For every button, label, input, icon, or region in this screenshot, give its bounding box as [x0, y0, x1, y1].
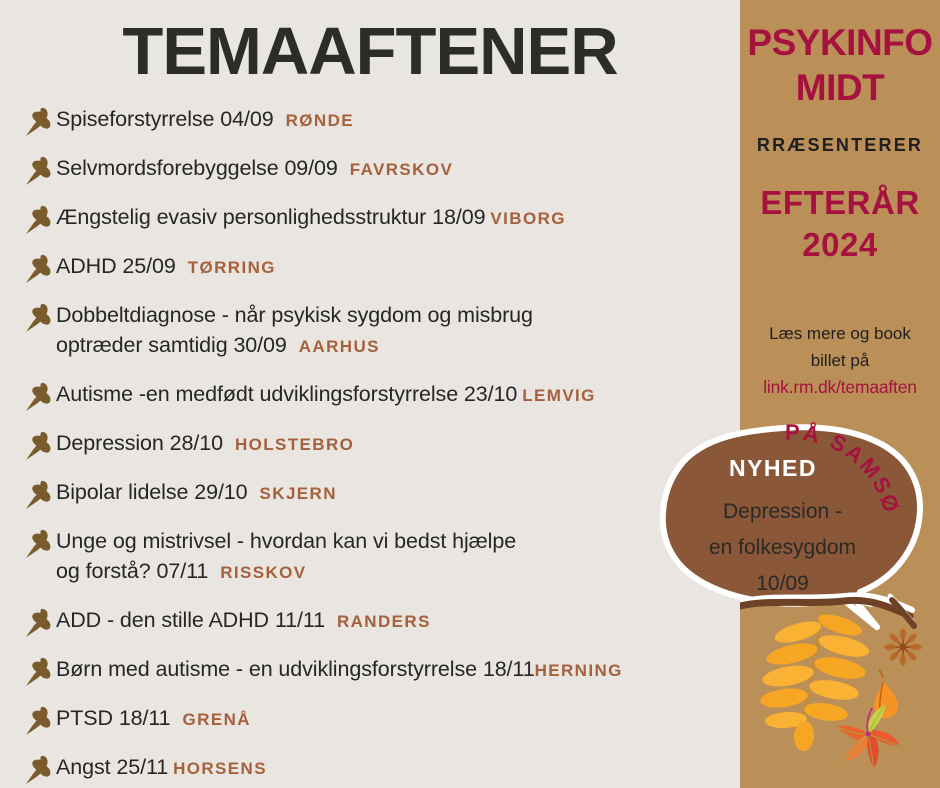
event-row[interactable]: Bipolar lidelse 29/10SKJERN	[22, 477, 742, 509]
event-city-label: RØNDE	[286, 111, 354, 130]
event-city-label: HOLSTEBRO	[235, 435, 354, 454]
news-speech-bubble: NYHED Depression - en folkesygdom 10/09 …	[655, 422, 940, 637]
pushpin-icon	[22, 106, 56, 136]
event-title-text: Børn med autisme - en udviklingsforstyrr…	[56, 657, 535, 681]
brand-name-line2: MIDT	[740, 65, 940, 110]
pushpin-icon	[22, 656, 56, 686]
event-row[interactable]: Dobbeltdiagnose - når psykisk sygdom og …	[22, 300, 742, 362]
event-text: ADD - den stille ADHD 11/11RANDERS	[56, 605, 742, 637]
booking-link[interactable]: link.rm.dk/temaaften	[740, 374, 940, 401]
event-title-text: ADD - den stille ADHD 11/11	[56, 608, 325, 632]
event-list: Spiseforstyrrelse 04/09RØNDESelvmordsfor…	[22, 104, 742, 788]
event-city-label: GRENÅ	[183, 710, 251, 729]
event-text: Børn med autisme - en udviklingsforstyrr…	[56, 654, 742, 686]
event-title-text: og forstå? 07/11	[56, 559, 208, 583]
event-row[interactable]: Depression 28/10HOLSTEBRO	[22, 428, 742, 460]
event-city-label: VIBORG	[490, 209, 565, 228]
event-title-text: PTSD 18/11	[56, 706, 171, 730]
pushpin-icon	[22, 430, 56, 460]
event-row[interactable]: Angst 25/11HORSENS	[22, 752, 742, 784]
event-city-label: RANDERS	[337, 612, 431, 631]
event-text: Angst 25/11HORSENS	[56, 752, 742, 784]
event-row[interactable]: Selvmordsforebyggelse 09/09FAVRSKOV	[22, 153, 742, 185]
event-title-line-1: Dobbeltdiagnose - når psykisk sygdom og …	[56, 300, 742, 330]
pushpin-icon	[22, 204, 56, 234]
event-title-line-1: Unge og mistrivsel - hvordan kan vi beds…	[56, 526, 742, 556]
event-row[interactable]: Børn med autisme - en udviklingsforstyrr…	[22, 654, 742, 686]
booking-block: Læs mere og book billet på link.rm.dk/te…	[740, 320, 940, 401]
event-title-text: Ængstelig evasiv personlighedsstruktur 1…	[56, 205, 485, 229]
event-city-label: FAVRSKOV	[350, 160, 453, 179]
event-row[interactable]: ADD - den stille ADHD 11/11RANDERS	[22, 605, 742, 637]
pushpin-icon	[22, 528, 56, 558]
event-city-label: RISSKOV	[220, 563, 306, 582]
event-city-label: SKJERN	[260, 484, 337, 503]
event-title-text: ADHD 25/09	[56, 254, 176, 278]
booking-text-line1: Læs mere og book	[740, 320, 940, 347]
event-city-label: AARHUS	[299, 337, 380, 356]
event-title-text: Bipolar lidelse 29/10	[56, 480, 248, 504]
pushpin-icon	[22, 754, 56, 784]
event-city-label: HORSENS	[173, 759, 267, 778]
pushpin-icon	[22, 705, 56, 735]
pushpin-icon	[22, 155, 56, 185]
event-text: PTSD 18/11GRENÅ	[56, 703, 742, 735]
event-text: Ængstelig evasiv personlighedsstruktur 1…	[56, 202, 742, 234]
event-title-line-2: optræder samtidig 30/09AARHUS	[56, 330, 742, 362]
event-text: ADHD 25/09TØRRING	[56, 251, 742, 283]
event-text: Bipolar lidelse 29/10SKJERN	[56, 477, 742, 509]
brand-name-line1: PSYKINFO	[740, 20, 940, 65]
season-label: EFTERÅR	[740, 182, 940, 224]
event-city-label: TØRRING	[188, 258, 276, 277]
pushpin-icon	[22, 607, 56, 637]
event-row[interactable]: ADHD 25/09TØRRING	[22, 251, 742, 283]
event-text: Depression 28/10HOLSTEBRO	[56, 428, 742, 460]
event-title-text: optræder samtidig 30/09	[56, 333, 287, 357]
poster-root: TEMAAFTENER Spiseforstyrrelse 04/09RØNDE…	[0, 0, 940, 788]
event-text: Dobbeltdiagnose - når psykisk sygdom og …	[56, 300, 742, 362]
event-text: Selvmordsforebyggelse 09/09FAVRSKOV	[56, 153, 742, 185]
event-row[interactable]: Spiseforstyrrelse 04/09RØNDE	[22, 104, 742, 136]
brand-block: PSYKINFO MIDT	[740, 20, 940, 110]
event-text: Unge og mistrivsel - hvordan kan vi beds…	[56, 526, 742, 588]
page-title: TEMAAFTENER	[0, 14, 740, 90]
event-row[interactable]: PTSD 18/11GRENÅ	[22, 703, 742, 735]
event-title-line-2: og forstå? 07/11RISSKOV	[56, 556, 742, 588]
pushpin-icon	[22, 381, 56, 411]
event-row[interactable]: Autisme -en medfødt udviklingsforstyrrel…	[22, 379, 742, 411]
event-city-label: HERNING	[535, 661, 623, 680]
season-block: EFTERÅR 2024	[740, 182, 940, 266]
pushpin-icon	[22, 479, 56, 509]
event-title-text: Spiseforstyrrelse 04/09	[56, 107, 274, 131]
event-title-text: Angst 25/11	[56, 755, 168, 779]
event-text: Autisme -en medfødt udviklingsforstyrrel…	[56, 379, 742, 411]
event-text: Spiseforstyrrelse 04/09RØNDE	[56, 104, 742, 136]
event-row[interactable]: Ængstelig evasiv personlighedsstruktur 1…	[22, 202, 742, 234]
event-title-text: Autisme -en medfødt udviklingsforstyrrel…	[56, 382, 517, 406]
event-title-text: Selvmordsforebyggelse 09/09	[56, 156, 338, 180]
speech-bubble-shape	[655, 422, 940, 637]
pushpin-icon	[22, 302, 56, 332]
event-city-label: LEMVIG	[522, 386, 596, 405]
presents-label: RRÆSENTERER	[740, 135, 940, 156]
pushpin-icon	[22, 253, 56, 283]
event-title-text: Depression 28/10	[56, 431, 223, 455]
season-year: 2024	[740, 224, 940, 266]
booking-text-line2: billet på	[740, 347, 940, 374]
event-row[interactable]: Unge og mistrivsel - hvordan kan vi beds…	[22, 526, 742, 588]
